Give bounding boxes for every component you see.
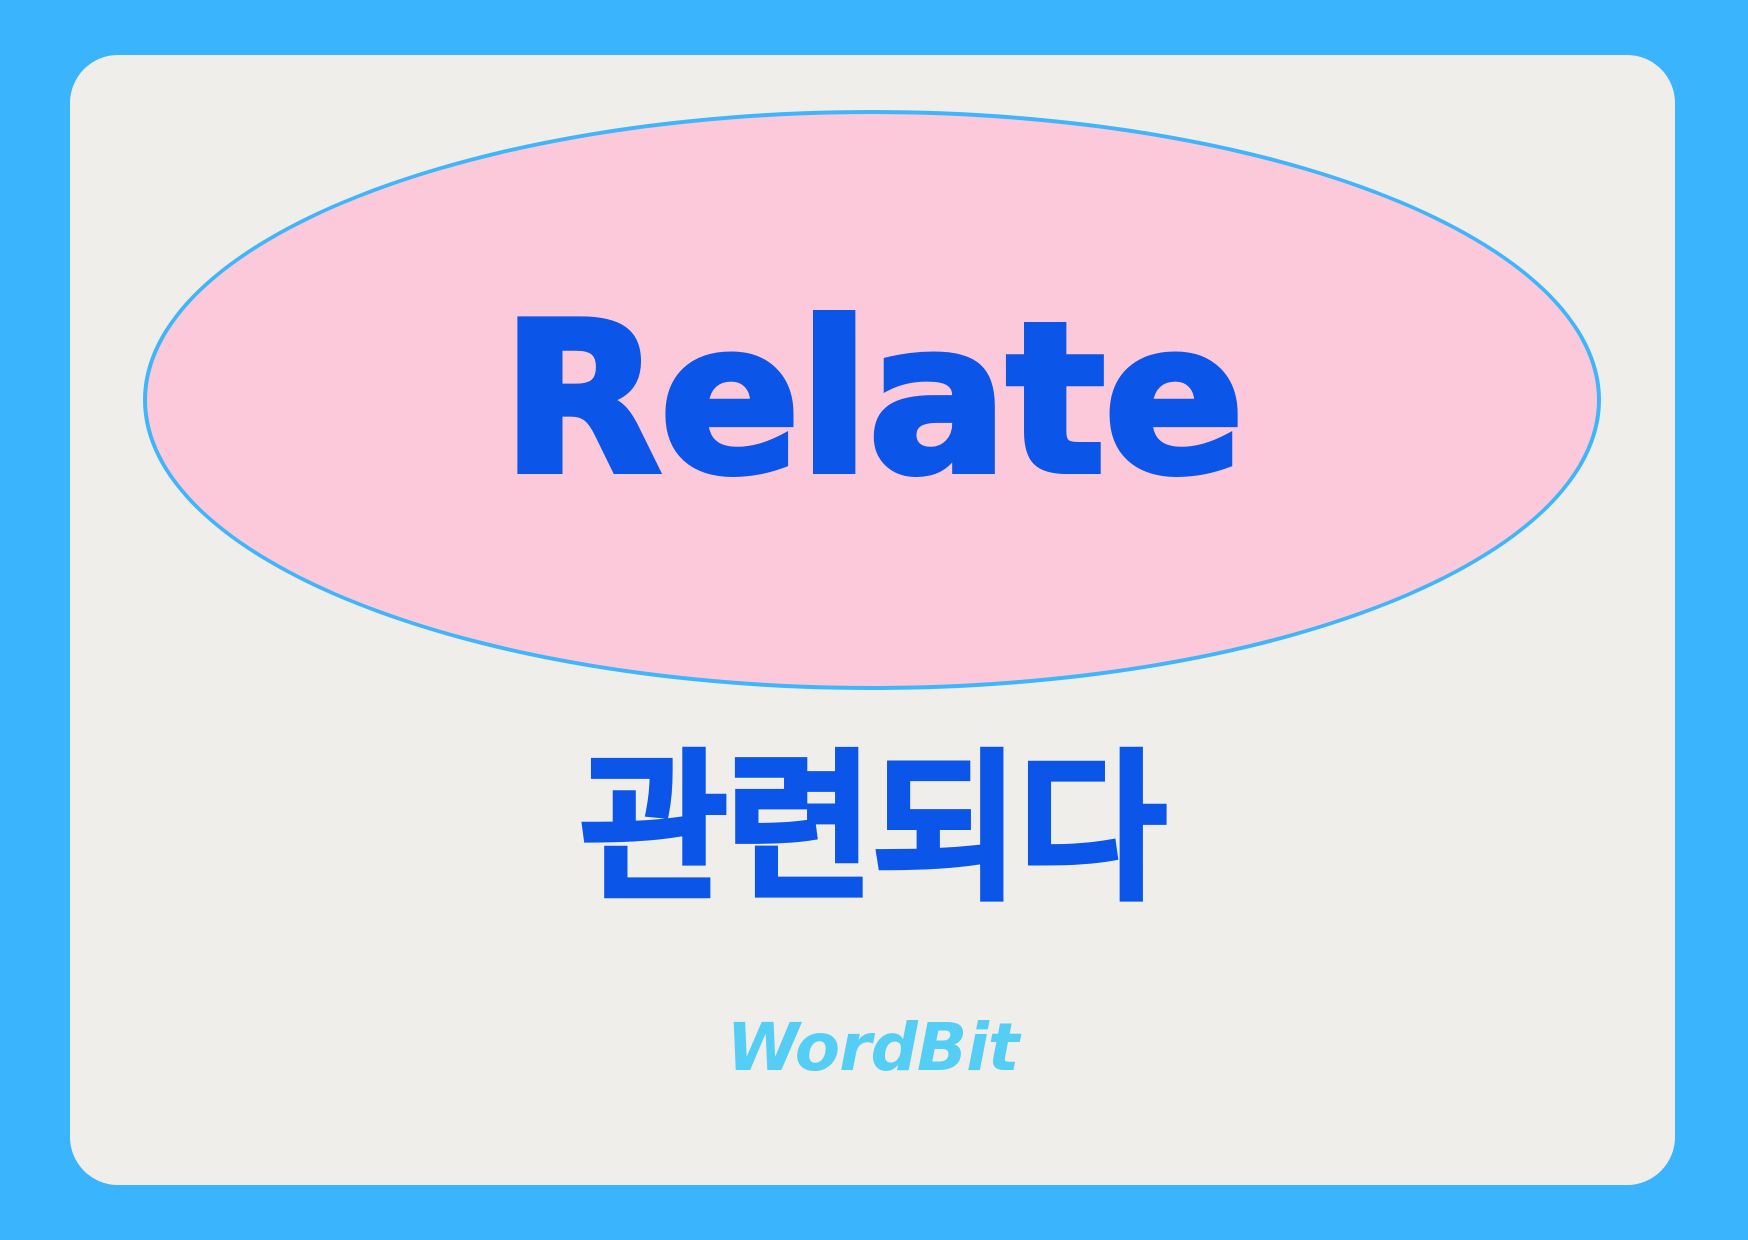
translation-text: 관련되다 [70,745,1675,913]
headword-ellipse-container: Relate [143,110,1601,690]
wordbit-logo: WordBit [70,1015,1675,1081]
flashcard-panel: Relate 관련되다 WordBit [70,55,1675,1185]
flashcard-root: Relate 관련되다 WordBit [0,0,1748,1240]
headword-text: Relate [143,110,1601,690]
